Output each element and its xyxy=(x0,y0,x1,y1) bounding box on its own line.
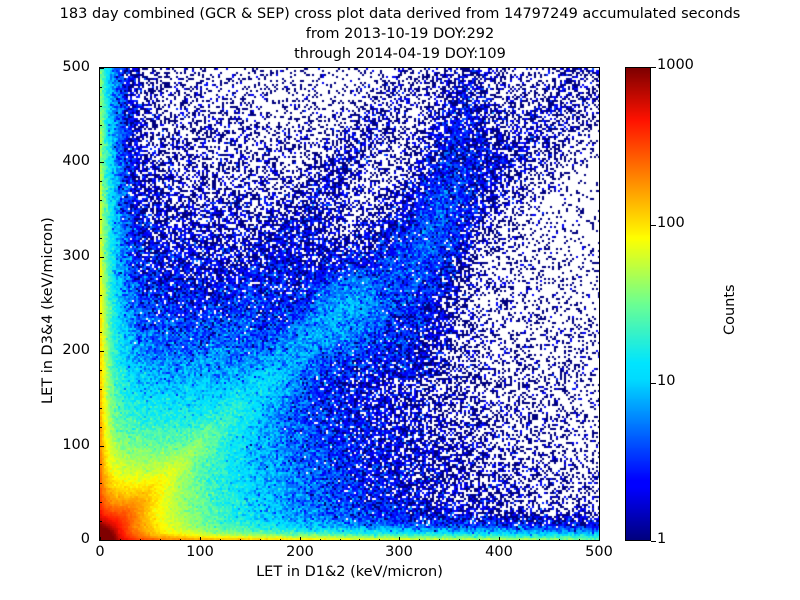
y-minor-tick xyxy=(100,144,102,145)
x-minor-tick xyxy=(579,539,580,541)
x-tick-label: 400 xyxy=(469,544,529,560)
x-minor-tick xyxy=(459,539,460,541)
y-tick-mark xyxy=(100,257,104,258)
x-axis-label: LET in D1&2 (keV/micron) xyxy=(99,564,600,580)
y-tick-mark xyxy=(100,540,104,541)
x-tick-mark xyxy=(200,537,201,541)
y-tick-mark xyxy=(100,68,104,69)
colorbar-label: Counts xyxy=(722,284,738,335)
figure-canvas: 183 day combined (GCR & SEP) cross plot … xyxy=(0,0,800,600)
x-tick-label: 200 xyxy=(270,544,330,560)
density-scatter-plot xyxy=(100,68,599,540)
y-tick-mark xyxy=(100,446,104,447)
x-minor-tick xyxy=(419,539,420,541)
y-tick-label: 500 xyxy=(30,59,90,75)
x-minor-tick xyxy=(220,539,221,541)
x-minor-tick xyxy=(260,539,261,541)
y-tick-label: 400 xyxy=(30,153,90,169)
y-minor-tick xyxy=(100,200,102,201)
y-minor-tick xyxy=(100,389,102,390)
x-minor-tick xyxy=(559,539,560,541)
x-minor-tick xyxy=(240,539,241,541)
y-minor-tick xyxy=(100,106,102,107)
chart-title: 183 day combined (GCR & SEP) cross plot … xyxy=(0,4,800,64)
colorbar-tick-label: 1 xyxy=(657,531,666,547)
y-minor-tick xyxy=(100,408,102,409)
x-tick-label: 500 xyxy=(569,544,629,560)
x-minor-tick xyxy=(379,539,380,541)
title-line-2: from 2013-10-19 DOY:292 xyxy=(0,24,800,44)
x-minor-tick xyxy=(340,539,341,541)
x-minor-tick xyxy=(320,539,321,541)
colorbar[interactable] xyxy=(625,67,651,541)
x-tick-mark xyxy=(599,537,600,541)
colorbar-tick-mark xyxy=(651,541,656,542)
x-minor-tick xyxy=(479,539,480,541)
y-tick-mark xyxy=(100,351,104,352)
y-minor-tick xyxy=(100,219,102,220)
x-minor-tick xyxy=(439,539,440,541)
colorbar-tick-mark xyxy=(651,67,656,68)
y-minor-tick xyxy=(100,332,102,333)
x-minor-tick xyxy=(160,539,161,541)
x-tick-label: 300 xyxy=(369,544,429,560)
x-minor-tick xyxy=(120,539,121,541)
x-minor-tick xyxy=(359,539,360,541)
colorbar-gradient xyxy=(626,68,650,540)
y-minor-tick xyxy=(100,295,102,296)
y-tick-label: 0 xyxy=(30,531,90,547)
y-axis-label: LET in D3&4 (keV/micron) xyxy=(40,217,56,404)
y-tick-mark xyxy=(100,162,104,163)
x-minor-tick xyxy=(539,539,540,541)
y-minor-tick xyxy=(100,238,102,239)
y-tick-label: 100 xyxy=(30,437,90,453)
x-minor-tick xyxy=(180,539,181,541)
x-tick-label: 100 xyxy=(170,544,230,560)
y-tick-label: 200 xyxy=(30,342,90,358)
x-tick-mark xyxy=(499,537,500,541)
y-minor-tick xyxy=(100,276,102,277)
colorbar-tick-label: 10 xyxy=(657,373,675,389)
colorbar-tick-mark xyxy=(651,383,656,384)
y-minor-tick xyxy=(100,87,102,88)
x-minor-tick xyxy=(280,539,281,541)
colorbar-tick-mark xyxy=(651,225,656,226)
y-minor-tick xyxy=(100,125,102,126)
y-minor-tick xyxy=(100,483,102,484)
colorbar-tick-label: 100 xyxy=(657,215,685,231)
y-minor-tick xyxy=(100,313,102,314)
y-minor-tick xyxy=(100,370,102,371)
y-minor-tick xyxy=(100,181,102,182)
y-minor-tick xyxy=(100,464,102,465)
x-tick-mark xyxy=(300,537,301,541)
x-tick-mark xyxy=(399,537,400,541)
title-line-1: 183 day combined (GCR & SEP) cross plot … xyxy=(0,4,800,24)
colorbar-tick-label: 1000 xyxy=(657,57,694,73)
y-minor-tick xyxy=(100,521,102,522)
x-minor-tick xyxy=(519,539,520,541)
plot-area[interactable] xyxy=(99,67,600,541)
y-minor-tick xyxy=(100,502,102,503)
x-minor-tick xyxy=(140,539,141,541)
y-minor-tick xyxy=(100,427,102,428)
y-tick-label: 300 xyxy=(30,248,90,264)
